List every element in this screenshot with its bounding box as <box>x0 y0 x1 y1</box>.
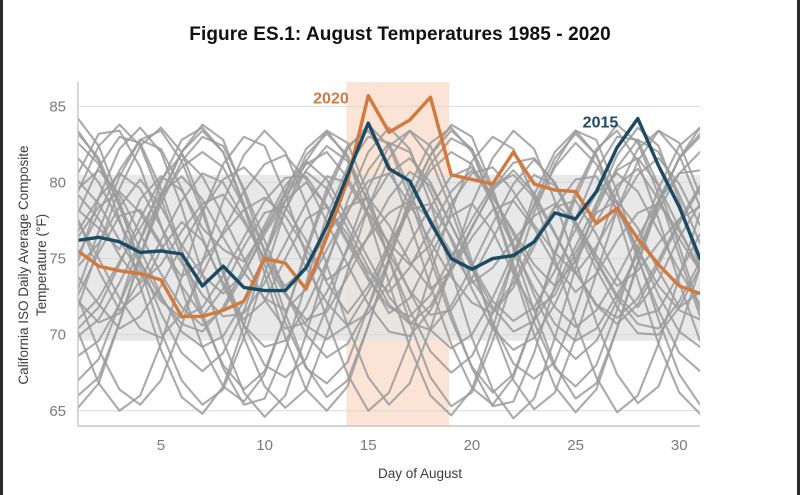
y-tick-label: 70 <box>49 327 66 344</box>
x-axis-tick-labels: 51015202530 <box>157 437 688 454</box>
y-tick-label: 80 <box>49 174 66 191</box>
x-tick-label: 15 <box>360 437 377 454</box>
x-tick-label: 30 <box>671 437 688 454</box>
y-tick-label: 75 <box>49 251 66 268</box>
figure-container: Figure ES.1: August Temperatures 1985 - … <box>0 0 800 495</box>
y-tick-label: 85 <box>49 98 66 115</box>
y-axis-title-line2: Temperature (°F) <box>34 214 49 316</box>
y-axis-tick-labels: 6570758085 <box>49 98 66 419</box>
y-axis-title-line1: California ISO Daily Average Composite <box>16 145 31 384</box>
x-axis-title: Day of August <box>378 466 462 481</box>
temperature-line-chart: 51015202530 6570758085 20202015 Day of A… <box>0 60 800 495</box>
x-tick-label: 5 <box>157 437 165 454</box>
label-2015: 2015 <box>583 115 619 132</box>
x-tick-label: 10 <box>256 437 273 454</box>
page-title: Figure ES.1: August Temperatures 1985 - … <box>0 24 800 46</box>
label-2020: 2020 <box>313 90 349 107</box>
x-tick-label: 20 <box>464 437 481 454</box>
y-tick-label: 65 <box>49 403 66 420</box>
chart-plot-area: 51015202530 6570758085 20202015 Day of A… <box>0 60 800 495</box>
x-tick-label: 25 <box>567 437 584 454</box>
